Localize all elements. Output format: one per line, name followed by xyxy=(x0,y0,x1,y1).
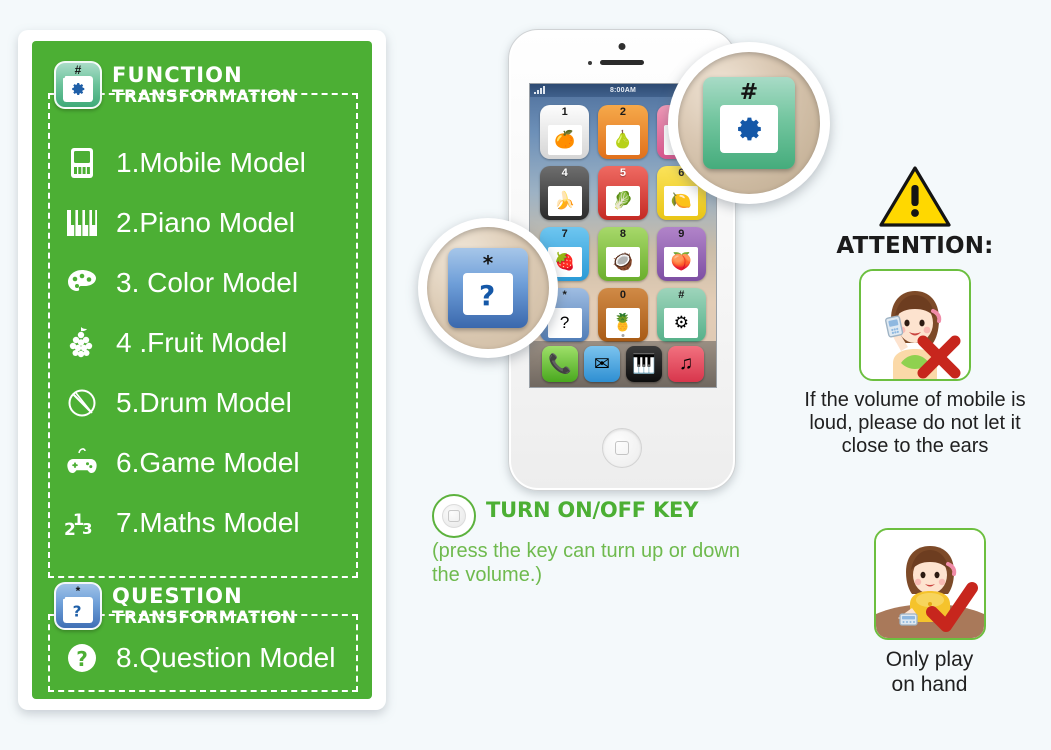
app-icon[interactable]: 2🍐 xyxy=(598,105,647,159)
app-key-label: 7 xyxy=(540,228,589,240)
coconut-icon: 🥥 xyxy=(606,247,640,277)
svg-text:?: ? xyxy=(479,279,495,310)
poster-canvas: # FUNCTION TRANSFORMATION xyxy=(0,0,1051,750)
question-tile-icon: * ? xyxy=(54,582,102,630)
app-key-label: 4 xyxy=(540,167,589,179)
list-item-drum[interactable]: 5.Drum Model xyxy=(48,373,358,433)
piano-icon[interactable]: 🎹 xyxy=(626,346,662,382)
grapes-icon xyxy=(62,324,102,362)
banana-icon: 🍌 xyxy=(548,186,582,216)
magnifier-question-key: * ? xyxy=(418,218,558,358)
list-item-label: 6.Game Model xyxy=(116,447,300,479)
power-key-icon[interactable] xyxy=(432,494,476,538)
list-item-label: 3. Color Model xyxy=(116,267,298,299)
list-item-label: 5.Drum Model xyxy=(116,387,292,419)
game-controller-icon xyxy=(62,444,102,482)
app-key-label: 0 xyxy=(598,289,647,301)
mail-icon[interactable]: ✉ xyxy=(584,346,620,382)
function-subtitle: TRANSFORMATION xyxy=(112,89,296,106)
question-title: QUESTION xyxy=(112,586,296,607)
girl-phone-at-ear-icon xyxy=(859,269,971,381)
app-icon[interactable]: 1🍊 xyxy=(540,105,589,159)
app-icon[interactable]: 9🍑 xyxy=(657,227,706,281)
lemon-icon: 🍋 xyxy=(664,186,698,216)
question-subtitle: TRANSFORMATION xyxy=(112,610,296,627)
function-section-header: # FUNCTION TRANSFORMATION xyxy=(32,57,372,113)
list-item-piano[interactable]: 2.Piano Model xyxy=(48,193,358,253)
asterisk-glyph-large: * xyxy=(448,251,528,275)
music-icon[interactable]: ♫ xyxy=(668,346,704,382)
list-item-label: 8.Question Model xyxy=(116,642,335,674)
turn-on-off-title: TURN ON/OFF KEY xyxy=(486,498,698,522)
question-circle-icon: ? xyxy=(62,639,102,677)
only-play-line2: on hand xyxy=(892,673,968,696)
orange-icon: 🍊 xyxy=(548,125,582,155)
svg-text:3: 3 xyxy=(82,520,92,538)
piano-keys-icon xyxy=(62,204,102,242)
app-key-label: # xyxy=(657,289,706,301)
list-item-maths[interactable]: 213 7.Maths Model xyxy=(48,493,358,553)
asterisk-glyph: * xyxy=(56,585,100,597)
gear-icon xyxy=(63,76,93,102)
paint-palette-icon xyxy=(62,264,102,302)
app-key-label: 1 xyxy=(540,106,589,118)
list-item-label: 4 .Fruit Model xyxy=(116,327,287,359)
question-mark-icon: ? xyxy=(463,273,513,315)
list-item-label: 1.Mobile Model xyxy=(116,147,306,179)
front-camera-icon xyxy=(619,43,626,50)
attention-block: ATTENTION: xyxy=(785,165,1045,459)
app-icon[interactable]: #⚙ xyxy=(657,288,706,342)
attention-warning-text: If the volume of mobile is loud, please … xyxy=(785,389,1045,459)
leaf-fruit-icon: 🥬 xyxy=(606,186,640,216)
app-key-label: 2 xyxy=(598,106,647,118)
gear-icon: ⚙ xyxy=(664,308,698,338)
svg-text:?: ? xyxy=(73,602,82,619)
hash-glyph-large: # xyxy=(703,80,795,105)
list-item-question[interactable]: ? 8.Question Model xyxy=(62,639,335,677)
function-model-list: 1.Mobile Model 2.Piano Model 3. Color Mo… xyxy=(48,133,358,553)
signal-bars-icon xyxy=(534,86,545,94)
gear-icon xyxy=(720,105,778,153)
app-icon[interactable]: 5🥬 xyxy=(598,166,647,220)
app-icon[interactable]: 8🥥 xyxy=(598,227,647,281)
page-dot xyxy=(622,334,625,337)
pear-icon: 🍐 xyxy=(606,125,640,155)
warning-triangle-icon xyxy=(878,165,952,229)
mobile-phone-icon xyxy=(62,144,102,182)
app-key-label: 5 xyxy=(598,167,647,179)
phone-icon[interactable]: 📞 xyxy=(542,346,578,382)
attention-label: ATTENTION: xyxy=(785,233,1045,259)
girl-phone-in-hand-icon xyxy=(874,528,986,640)
question-mark-icon: ? xyxy=(63,597,93,623)
turn-on-off-description: (press the key can turn up or down the v… xyxy=(432,540,762,587)
list-item-color[interactable]: 3. Color Model xyxy=(48,253,358,313)
only-play-caption: Only play on hand xyxy=(842,648,1017,698)
earpiece-icon xyxy=(600,60,644,65)
only-play-block: Only play on hand xyxy=(842,528,1017,698)
function-tile-icon: # xyxy=(54,61,102,109)
turn-on-off-block: TURN ON/OFF KEY (press the key can turn … xyxy=(432,492,762,587)
list-item-mobile[interactable]: 1.Mobile Model xyxy=(48,133,358,193)
list-item-label: 2.Piano Model xyxy=(116,207,295,239)
app-key-label: 9 xyxy=(657,228,706,240)
proximity-sensor-icon xyxy=(588,61,592,65)
list-item-fruit[interactable]: 4 .Fruit Model xyxy=(48,313,358,373)
list-item-game[interactable]: 6.Game Model xyxy=(48,433,358,493)
only-play-line1: Only play xyxy=(886,648,974,671)
numbers-213-icon: 213 xyxy=(62,504,102,542)
app-icon[interactable]: 4🍌 xyxy=(540,166,589,220)
hash-glyph: # xyxy=(56,64,100,76)
peach-icon: 🍑 xyxy=(664,247,698,277)
function-list-panel: # FUNCTION TRANSFORMATION xyxy=(32,41,372,699)
status-time: 8:00AM xyxy=(610,87,636,94)
phone-dock: 📞✉🎹♫ xyxy=(530,341,716,387)
question-section-header: * ? QUESTION TRANSFORMATION xyxy=(32,578,372,634)
app-key-label: 8 xyxy=(598,228,647,240)
function-title: FUNCTION xyxy=(112,65,296,86)
svg-text:?: ? xyxy=(76,647,88,671)
home-button[interactable] xyxy=(602,428,642,468)
list-item-label: 7.Maths Model xyxy=(116,507,300,539)
drum-icon xyxy=(62,384,102,422)
